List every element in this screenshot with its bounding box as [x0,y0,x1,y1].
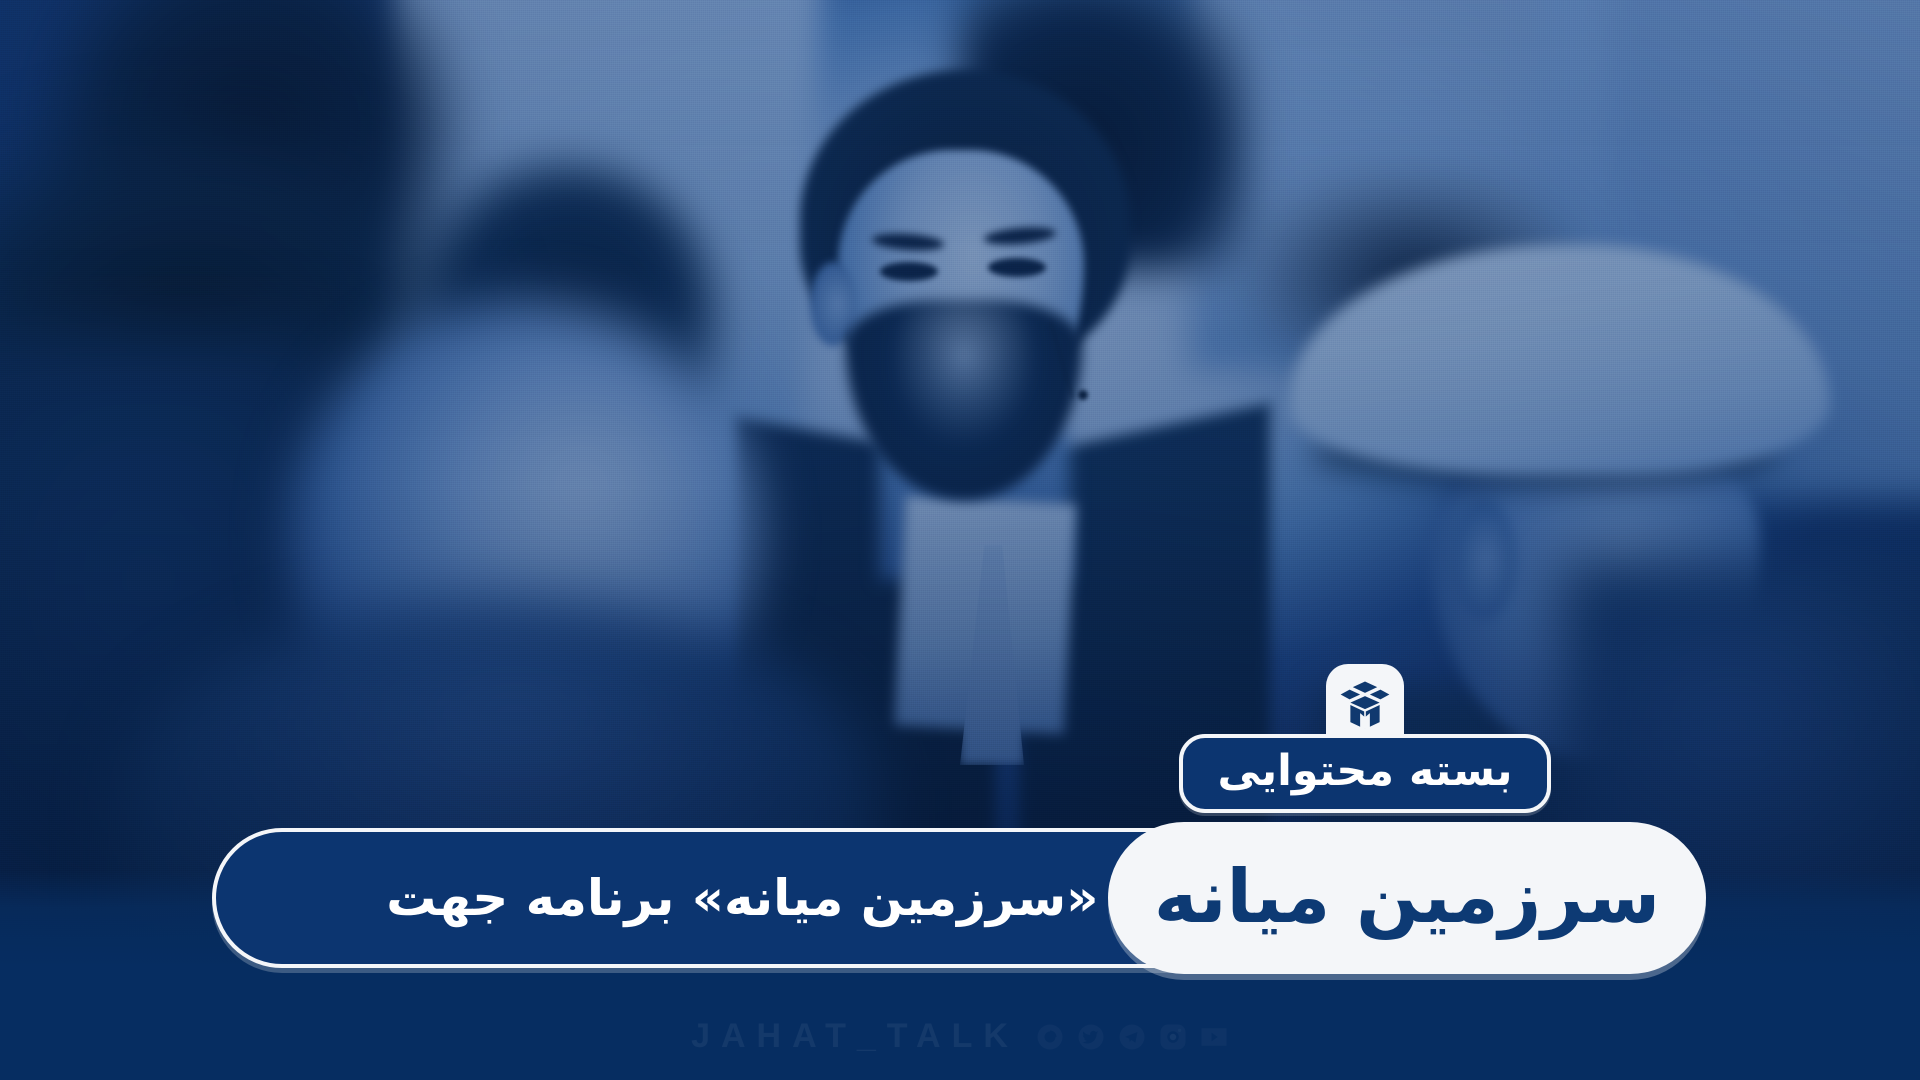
twitter-icon [1076,1022,1106,1052]
channel-watermark: JAHAT_TALK [0,1017,1920,1056]
open-box-icon [1339,679,1391,731]
badge-label: بسته محتوایی [1217,747,1512,795]
watermark-text: JAHAT_TALK [691,1017,1019,1056]
title-pill: سرزمین میانه [1108,822,1706,974]
title-row: ارائه «سرزمین میانه» برنامه جهت سرزمین م… [0,822,1920,972]
cover-stage: JAHAT_TALK بسته محتوایی [0,0,1920,1080]
telegram-icon [1117,1022,1147,1052]
content-package-badge: بسته محتوایی [1160,664,1570,824]
subtitle-text: ارائه «سرزمین میانه» برنامه جهت [386,871,1228,926]
youtube-icon [1199,1022,1229,1052]
badge-pill: بسته محتوایی [1179,734,1550,813]
watermark-social-icons [1035,1022,1229,1052]
page-title: سرزمین میانه [1154,859,1660,937]
instagram-icon [1158,1022,1188,1052]
aparat-icon [1035,1022,1065,1052]
